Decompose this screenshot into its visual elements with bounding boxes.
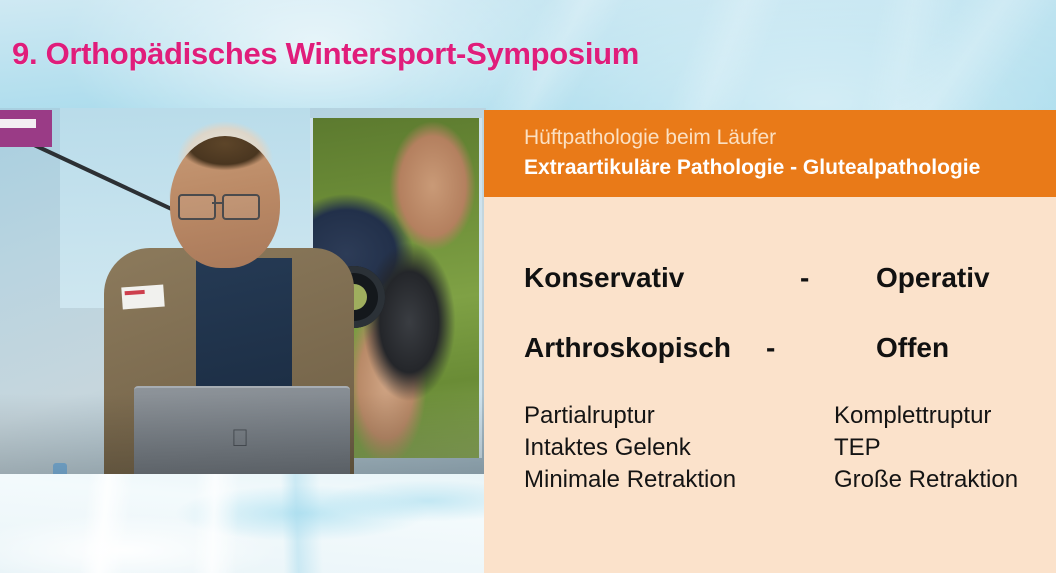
header-subtitle: Hüftpathologie beim Läufer xyxy=(524,126,776,150)
sponsor-banner-fragment xyxy=(0,110,52,147)
comparison-row-1-left: Konservativ xyxy=(524,262,684,294)
comparison-row-1-right: Operativ xyxy=(876,262,990,294)
detail-right-item-1: Komplettruptur xyxy=(834,400,1018,432)
detail-left-item-3: Minimale Retraktion xyxy=(524,464,736,496)
speaker-video-panel[interactable]:  LE MÉNIL xyxy=(0,108,486,474)
title-strip: 9. Orthopädisches Wintersport-Symposium xyxy=(0,0,1056,110)
sponsor-banner-bar xyxy=(0,119,36,128)
detail-right-item-2: TEP xyxy=(834,432,1018,464)
slide-header-band: Hüftpathologie beim Läufer Extraartikulä… xyxy=(484,110,1056,197)
comparison-row-2-right: Offen xyxy=(876,332,949,364)
detail-right-item-3: Große Retraktion xyxy=(834,464,1018,496)
comparison-row-1-separator: - xyxy=(800,262,809,294)
detail-column-left: Partialruptur Intaktes Gelenk Minimale R… xyxy=(524,400,736,496)
snow-field-background xyxy=(0,470,486,573)
video-vignette xyxy=(0,108,486,474)
header-title: Extraartikuläre Pathologie - Glutealpath… xyxy=(524,156,980,180)
detail-left-item-2: Intaktes Gelenk xyxy=(524,432,736,464)
page-title: 9. Orthopädisches Wintersport-Symposium xyxy=(12,36,639,72)
comparison-row-2-left: Arthroskopisch xyxy=(524,332,731,364)
detail-left-item-1: Partialruptur xyxy=(524,400,736,432)
detail-column-right: Komplettruptur TEP Große Retraktion xyxy=(834,400,1018,496)
comparison-row-2-separator: - xyxy=(766,332,775,364)
slide-content-panel xyxy=(484,197,1056,573)
slide-stage: 9. Orthopädisches Wintersport-Symposium … xyxy=(0,0,1056,573)
